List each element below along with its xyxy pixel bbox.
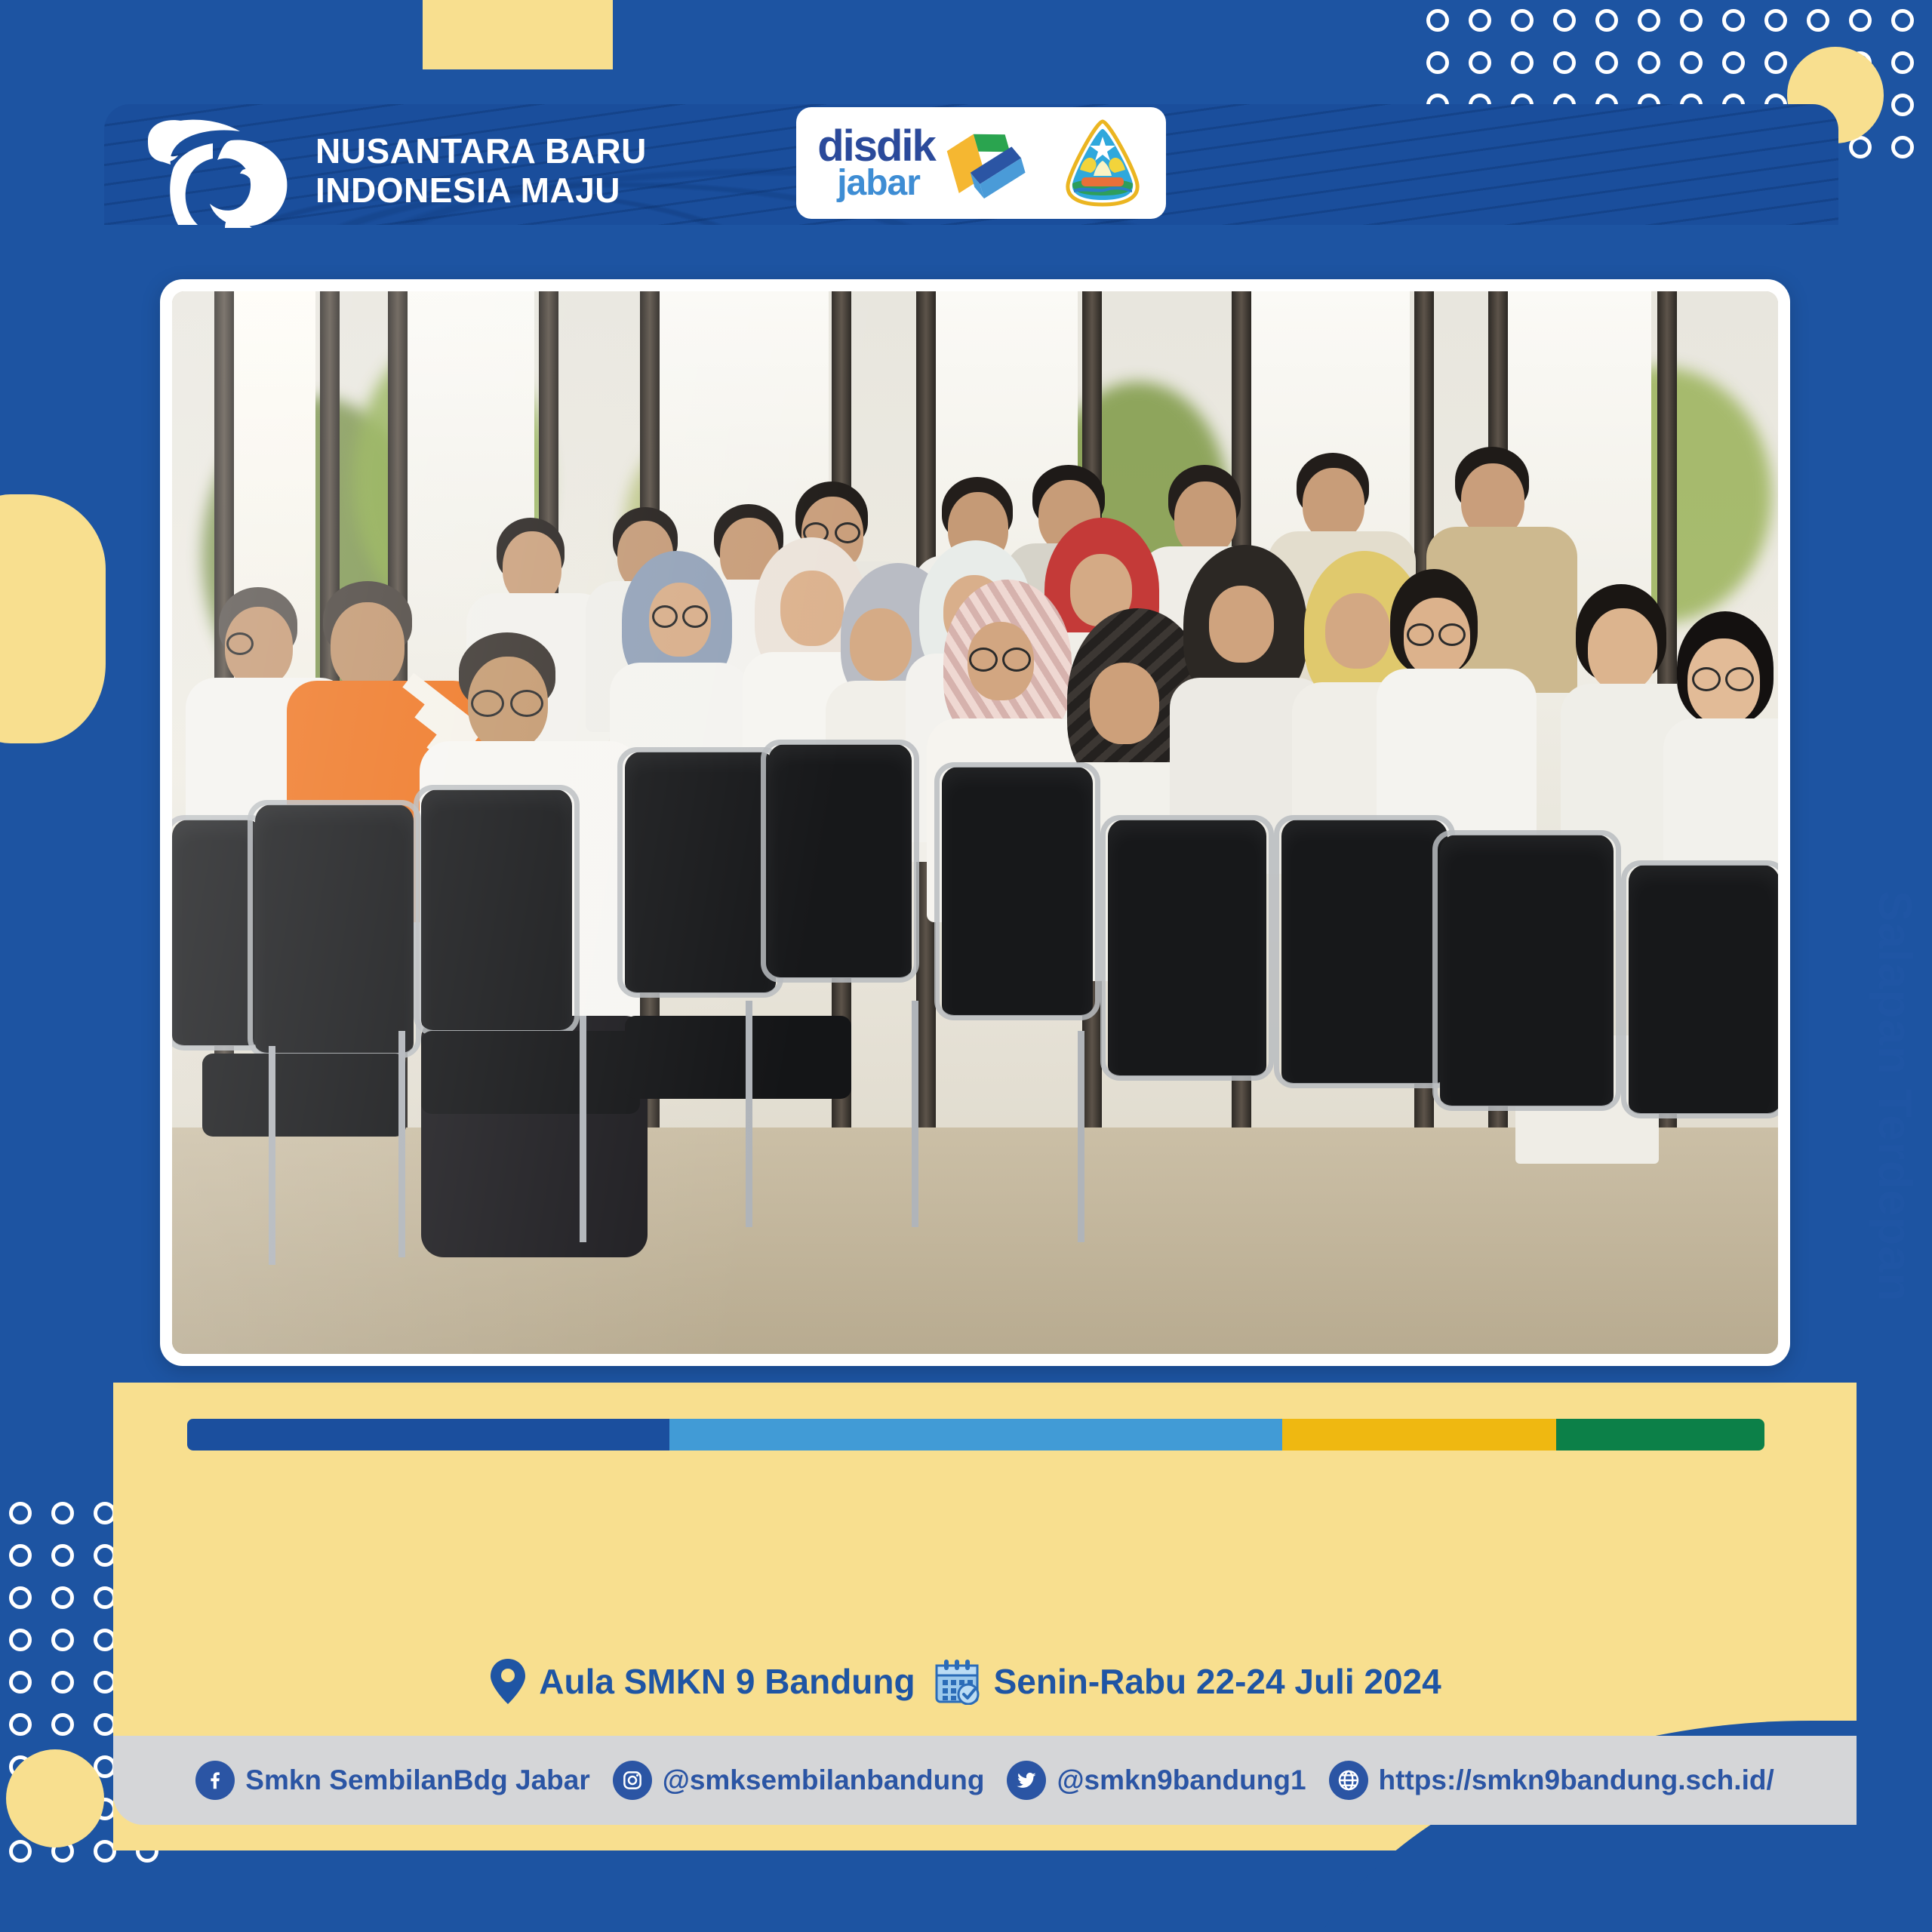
decorative-dot	[1680, 9, 1703, 32]
decorative-dot	[1891, 9, 1914, 32]
disdik-line-2: jabar	[837, 167, 935, 200]
poster-canvas: NUSANTARA BARU INDONESIA MAJU disdik jab…	[0, 0, 1932, 1932]
social-label: Smkn SembilanBdg Jabar	[245, 1764, 589, 1796]
decorative-dot	[9, 1629, 32, 1651]
decorative-dot	[1680, 51, 1703, 74]
decorative-dot	[51, 1713, 74, 1736]
decorative-dot	[1722, 9, 1745, 32]
decorative-dot	[1849, 9, 1872, 32]
disdik-jabar-logo: disdik jabar	[817, 122, 1030, 205]
decorative-dot	[51, 1586, 74, 1609]
social-label: @smkn9bandung1	[1057, 1764, 1306, 1796]
decorative-dot	[1553, 51, 1576, 74]
decorative-dot	[1891, 94, 1914, 116]
yellow-rect-top	[423, 0, 613, 69]
decorative-dot	[9, 1840, 32, 1863]
decorative-dot	[1469, 51, 1491, 74]
social-label: https://smkn9bandung.sch.id/	[1379, 1764, 1774, 1796]
segment-light-blue	[669, 1419, 1283, 1451]
event-photo	[172, 291, 1778, 1354]
social-item[interactable]: Smkn SembilanBdg Jabar	[195, 1761, 589, 1800]
decorative-dot	[9, 1544, 32, 1567]
school-crest-icon	[1060, 117, 1145, 209]
date-text: Senin-Rabu 22-24 Juli 2024	[994, 1661, 1441, 1702]
photo-scene	[172, 291, 1778, 1354]
tagline-vertical: Salapan Terdepan	[1868, 891, 1921, 1302]
social-item[interactable]: https://smkn9bandung.sch.id/	[1329, 1761, 1774, 1800]
social-label: @smksembilanbandung	[663, 1764, 985, 1796]
decorative-dot	[9, 1713, 32, 1736]
decorative-dot	[1426, 9, 1449, 32]
decorative-dot	[1511, 9, 1534, 32]
decorative-dot	[1595, 9, 1618, 32]
yellow-circle-bottom-left	[6, 1749, 104, 1847]
brand-lockup: NUSANTARA BARU INDONESIA MAJU	[140, 115, 647, 228]
segment-dark-blue	[187, 1419, 669, 1451]
event-info-line: Aula SMKN 9 Bandung Senin-Rabu 22-	[0, 1651, 1932, 1712]
decorative-dot	[1469, 9, 1491, 32]
yellow-blob-left	[0, 494, 106, 743]
location-text: Aula SMKN 9 Bandung	[539, 1661, 915, 1702]
decorative-dot	[1638, 51, 1660, 74]
slogan: NUSANTARA BARU INDONESIA MAJU	[315, 132, 647, 211]
decorative-dot	[1426, 51, 1449, 74]
globe-icon	[1329, 1761, 1368, 1800]
decorative-dot	[51, 1544, 74, 1567]
decorative-dot	[1511, 51, 1534, 74]
decorative-dot	[51, 1502, 74, 1524]
social-item[interactable]: @smksembilanbandung	[613, 1761, 985, 1800]
social-footer-bar: Smkn SembilanBdg Jabar@smksembilanbandun…	[113, 1736, 1857, 1825]
event-location: Aula SMKN 9 Bandung	[491, 1659, 915, 1704]
social-item[interactable]: @smkn9bandung1	[1007, 1761, 1306, 1800]
decorative-dot	[9, 1502, 32, 1524]
logo-badge: disdik jabar	[796, 107, 1166, 219]
location-pin-icon	[491, 1659, 525, 1704]
color-progress-bar	[187, 1419, 1764, 1451]
disdik-wordmark: disdik jabar	[817, 126, 935, 200]
decorative-dot	[1638, 9, 1660, 32]
light-overlay	[172, 291, 1778, 1354]
logo-79-icon	[140, 115, 296, 228]
instagram-icon	[613, 1761, 652, 1800]
decorative-dot	[1764, 51, 1787, 74]
decorative-dot	[1764, 9, 1787, 32]
decorative-dot	[9, 1586, 32, 1609]
calendar-icon	[934, 1658, 980, 1705]
event-date: Senin-Rabu 22-24 Juli 2024	[934, 1658, 1441, 1705]
decorative-dot	[1595, 51, 1618, 74]
photo-frame	[160, 279, 1790, 1366]
decorative-dot	[1722, 51, 1745, 74]
decorative-dot	[1891, 51, 1914, 74]
twitter-icon	[1007, 1761, 1046, 1800]
segment-yellow	[1282, 1419, 1556, 1451]
decorative-dot	[1891, 136, 1914, 158]
slogan-line-1: NUSANTARA BARU	[315, 132, 647, 171]
decorative-dot	[1807, 9, 1829, 32]
disdik-line-1: disdik	[817, 126, 935, 166]
segment-green	[1556, 1419, 1764, 1451]
disdik-book-icon	[940, 122, 1030, 205]
facebook-icon	[195, 1761, 235, 1800]
decorative-dot	[51, 1629, 74, 1651]
slogan-line-2: INDONESIA MAJU	[315, 171, 647, 211]
decorative-dot	[1553, 9, 1576, 32]
